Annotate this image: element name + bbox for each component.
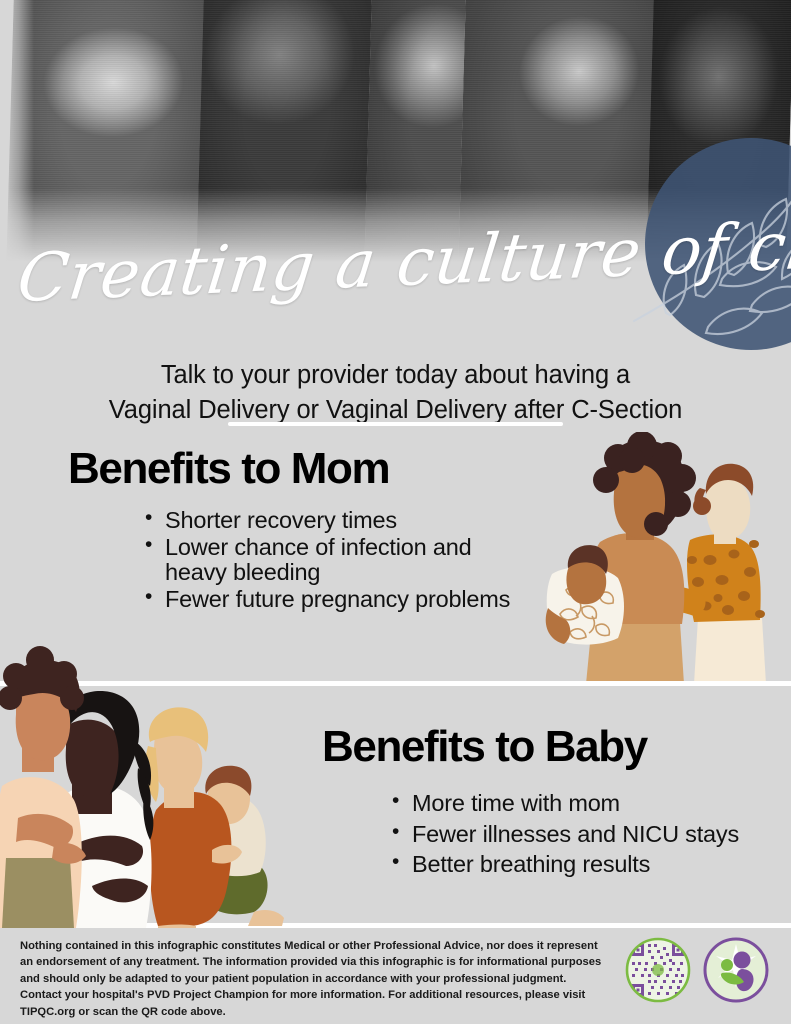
subtitle-divider: [228, 422, 563, 426]
list-item: More time with mom: [392, 788, 782, 819]
mother-and-newborn-photo-2: [196, 0, 376, 262]
mom-section-heading: Benefits to Mom: [68, 444, 389, 494]
mother-and-newborn-photo-1: [6, 0, 210, 262]
list-item: Fewer illnesses and NICU stays: [392, 819, 782, 850]
list-item: Shorter recovery times: [145, 508, 525, 533]
subtitle-line-1: Talk to your provider today about having…: [0, 358, 791, 393]
footer-logos: [624, 932, 784, 1004]
baby-section-heading: Benefits to Baby: [322, 722, 647, 772]
qr-code-icon[interactable]: [624, 936, 692, 1004]
list-item: Fewer future pregnancy problems: [145, 587, 525, 612]
footer: Nothing contained in this infographic co…: [0, 928, 791, 1024]
disclaimer-text: Nothing contained in this infographic co…: [20, 938, 605, 1020]
baby-benefits-list: More time with mom Fewer illnesses and N…: [392, 788, 782, 880]
three-women-with-baby-illustration: [522, 432, 791, 684]
subtitle: Talk to your provider today about having…: [0, 358, 791, 428]
couples-expecting-illustration: [0, 636, 336, 928]
infographic-poster: Creating a culture of change Talk to you…: [0, 0, 791, 1024]
mom-benefits-list: Shorter recovery times Lower chance of i…: [145, 508, 525, 615]
tipqc-logo-icon[interactable]: [702, 936, 770, 1004]
list-item: Better breathing results: [392, 849, 782, 880]
list-item: Lower chance of infection and heavy blee…: [145, 535, 525, 585]
